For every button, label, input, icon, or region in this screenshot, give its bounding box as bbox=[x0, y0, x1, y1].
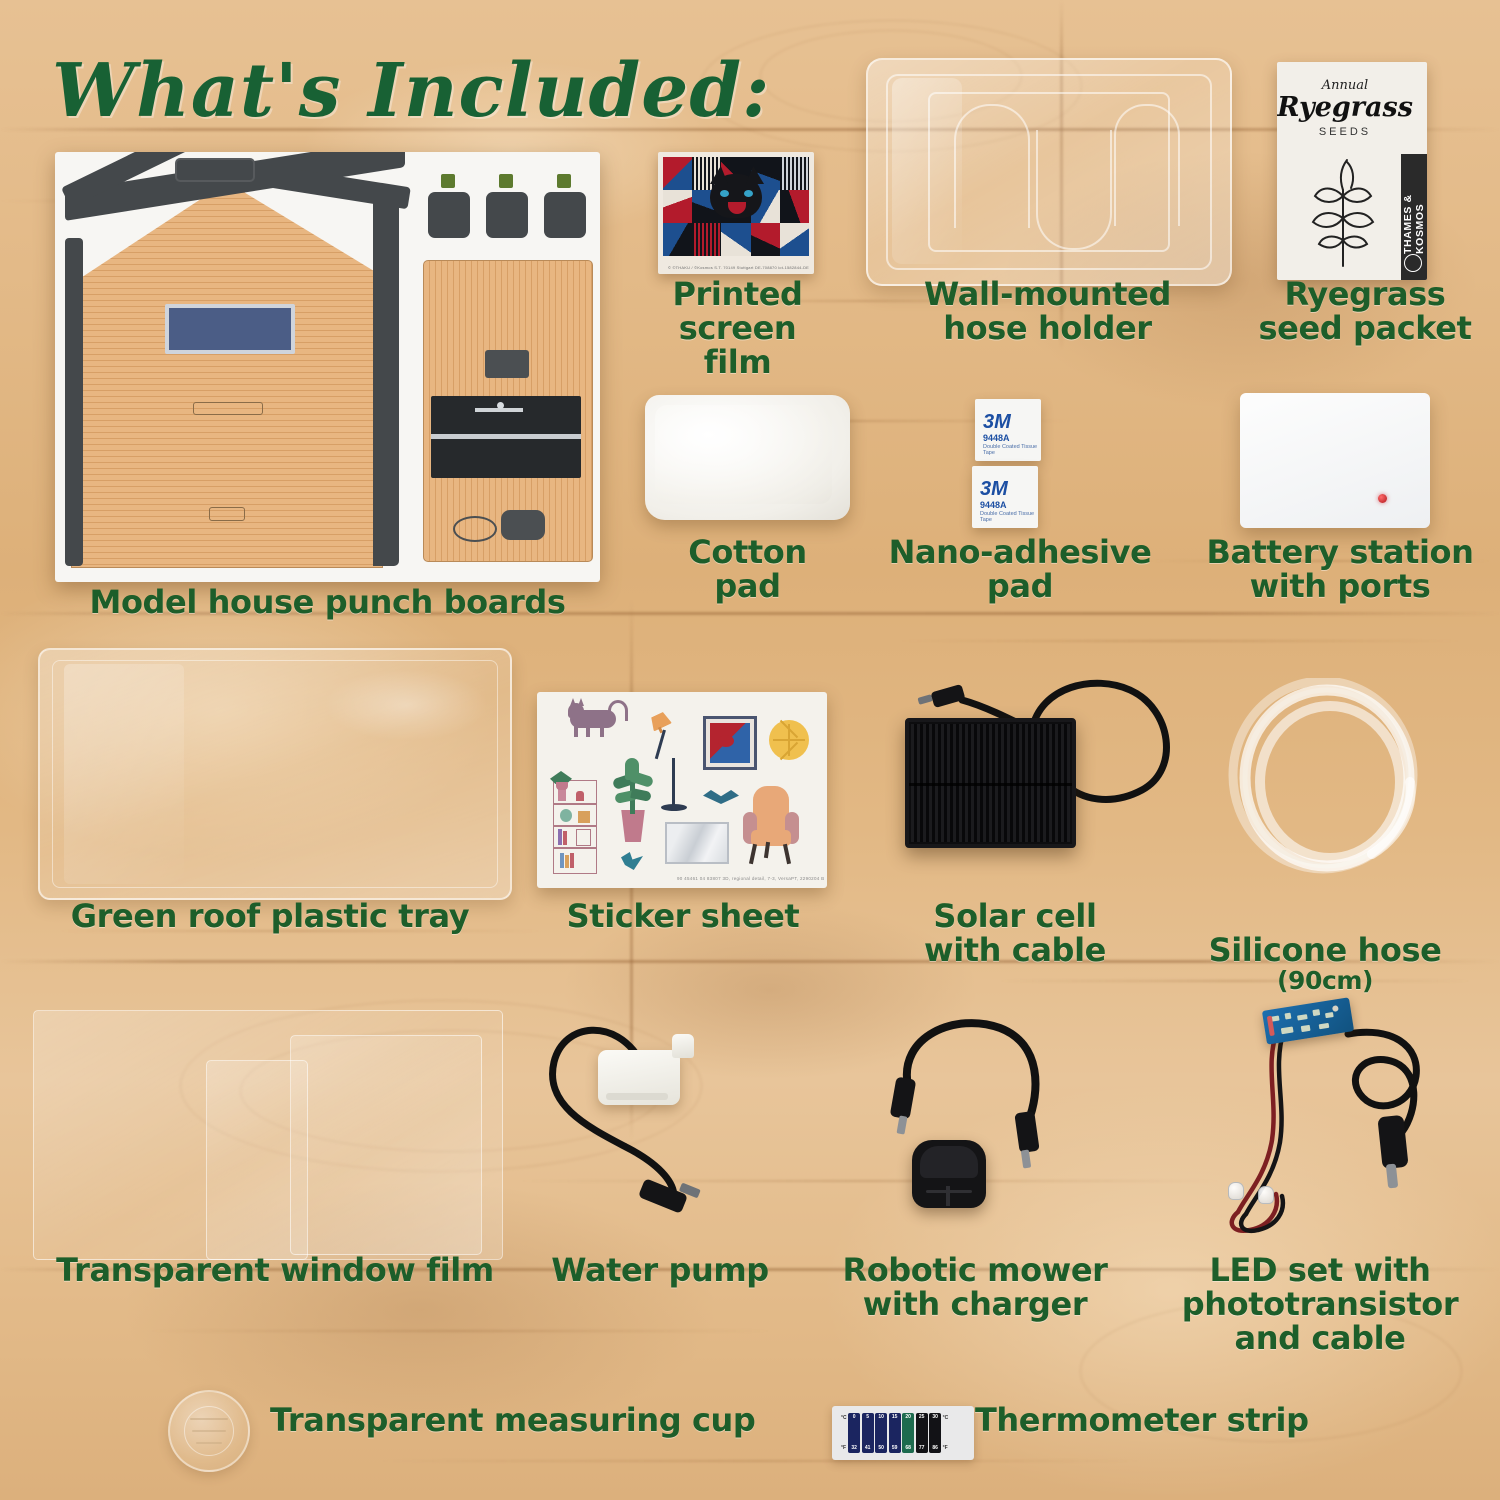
thermometer-unit-celsius: °C bbox=[841, 1415, 847, 1421]
label-sticker-sheet: Sticker sheet bbox=[548, 900, 818, 934]
thermometer-cell-celsius: 5 bbox=[866, 1415, 869, 1420]
punchboard-window bbox=[165, 304, 295, 354]
thermometer-cell-celsius: 20 bbox=[905, 1415, 911, 1420]
transparent-measuring-cup bbox=[168, 1390, 250, 1472]
thermometer-strip: °C °F 03254110501559206825773086 °C °F bbox=[832, 1406, 974, 1460]
page-title: What's Included: bbox=[52, 48, 770, 134]
seed-packet-annual: Annual bbox=[1277, 78, 1413, 93]
thermometer-cell-fahrenheit: 86 bbox=[932, 1446, 938, 1451]
led-bulb-2 bbox=[1258, 1186, 1274, 1204]
product-contents-photo: What's Included: Model house pun bbox=[0, 0, 1500, 1500]
thermometer-cell-celsius: 15 bbox=[892, 1415, 898, 1420]
sticker-sheet: 90 45461 04 83807 3D, regional detail, 7… bbox=[537, 692, 827, 888]
label-punch-boards: Model house punch boards bbox=[30, 586, 625, 620]
battery-station-with-ports bbox=[1240, 393, 1430, 528]
water-pump bbox=[520, 1000, 750, 1230]
label-mower: Robotic mower with charger bbox=[830, 1254, 1120, 1322]
screen-film-fineprint: © ©THAKU / ©Kosmos S.T. 70149 Stuttgart … bbox=[668, 265, 809, 270]
label-hose-holder: Wall-mounted hose holder bbox=[880, 278, 1215, 346]
thermometer-cell: 541 bbox=[862, 1413, 874, 1453]
thermometer-cell-fahrenheit: 32 bbox=[851, 1446, 857, 1451]
3m-logo: 3M bbox=[983, 411, 1011, 434]
thermometer-cell-celsius: 0 bbox=[853, 1415, 856, 1420]
sticker-sun-icon bbox=[769, 720, 809, 760]
seed-packet-brand: THAMES & KOSMOS bbox=[1403, 162, 1425, 254]
cotton-pad bbox=[645, 395, 850, 520]
label-screen-film: Printed screen film bbox=[645, 278, 830, 380]
thermometer-cell-celsius: 25 bbox=[919, 1415, 925, 1420]
printed-screen-film: © ©THAKU / ©Kosmos S.T. 70149 Stuttgart … bbox=[658, 152, 814, 274]
seed-packet-seeds: SEEDS bbox=[1277, 126, 1413, 138]
label-led-set: LED set with phototransistor and cable bbox=[1155, 1254, 1485, 1356]
thermometer-unit-fahrenheit: °F bbox=[841, 1445, 847, 1451]
battery-led-indicator bbox=[1378, 494, 1387, 503]
thermometer-units-right: °C °F bbox=[943, 1413, 949, 1453]
thermometer-cell: 2068 bbox=[902, 1413, 914, 1453]
sticker-bird-icon bbox=[703, 790, 739, 804]
sticker-sheet-fineprint: 90 45461 04 83807 3D, regional detail, 7… bbox=[677, 876, 824, 881]
thermometer-cell-fahrenheit: 41 bbox=[865, 1446, 871, 1451]
label-water-pump: Water pump bbox=[540, 1254, 780, 1288]
label-thermometer: Thermometer strip bbox=[975, 1404, 1405, 1438]
wall-mounted-hose-holder bbox=[866, 58, 1232, 286]
thermometer-cell: 2577 bbox=[916, 1413, 928, 1453]
thermometer-cell-fahrenheit: 59 bbox=[892, 1446, 898, 1451]
3m-code-2: 9448A bbox=[980, 500, 1007, 510]
silicone-hose bbox=[1222, 678, 1432, 888]
thermometer-cell-celsius: 10 bbox=[878, 1415, 884, 1420]
led-set-with-phototransistor bbox=[1180, 990, 1470, 1240]
nano-adhesive-pad-2: 3M 9448A Double Coated Tissue Tape bbox=[972, 466, 1038, 528]
label-seed-packet: Ryegrass seed packet bbox=[1255, 278, 1475, 346]
label-battery: Battery station with ports bbox=[1195, 536, 1485, 604]
thermometer-cell: 1050 bbox=[875, 1413, 887, 1453]
thermometer-unit-fahrenheit-right: °F bbox=[943, 1445, 949, 1451]
ryegrass-plant-illustration bbox=[1295, 150, 1391, 268]
seed-packet-name: Ryegrass bbox=[1277, 92, 1413, 123]
label-window-film: Transparent window film bbox=[30, 1254, 520, 1288]
nano-adhesive-pad-1: 3M 9448A Double Coated Tissue Tape bbox=[975, 399, 1041, 461]
3m-logo-2: 3M bbox=[980, 478, 1008, 501]
thermometer-units: °C °F bbox=[841, 1413, 847, 1453]
3m-fineprint-1: Double Coated Tissue Tape bbox=[983, 444, 1041, 456]
label-silicone-hose-main: Silicone hose bbox=[1209, 931, 1442, 969]
sticker-mirror-icon bbox=[665, 822, 729, 864]
3m-fineprint-2: Double Coated Tissue Tape bbox=[980, 511, 1038, 523]
label-solar-cell: Solar cell with cable bbox=[880, 900, 1150, 968]
green-roof-plastic-tray bbox=[38, 648, 512, 900]
thermometer-cell: 1559 bbox=[889, 1413, 901, 1453]
thermometer-cell-fahrenheit: 77 bbox=[919, 1446, 925, 1451]
robotic-mower-with-charger bbox=[860, 1000, 1090, 1240]
led-bulb-1 bbox=[1228, 1182, 1244, 1200]
label-cotton-pad: Cotton pad bbox=[650, 536, 845, 604]
model-house-punch-boards bbox=[55, 152, 600, 582]
transparent-window-film-medium bbox=[290, 1035, 482, 1255]
thermometer-cell: 3086 bbox=[929, 1413, 941, 1453]
label-nano-pad: Nano-adhesive pad bbox=[880, 536, 1160, 604]
thermometer-cell: 032 bbox=[848, 1413, 860, 1453]
sticker-bookshelf-icon bbox=[553, 780, 597, 874]
label-roof-tray: Green roof plastic tray bbox=[20, 900, 520, 934]
water-pump-nozzle bbox=[672, 1034, 694, 1058]
thermometer-cell-celsius: 30 bbox=[932, 1415, 938, 1420]
thermometer-cells: 03254110501559206825773086 bbox=[848, 1413, 941, 1453]
3m-code-1: 9448A bbox=[983, 433, 1010, 443]
thermometer-cell-fahrenheit: 68 bbox=[905, 1446, 911, 1451]
sticker-framed-art-icon bbox=[703, 716, 757, 770]
ryegrass-seed-packet: Annual Ryegrass SEEDS THAMES & KOSMOS bbox=[1277, 62, 1427, 280]
solar-cell bbox=[905, 718, 1076, 848]
sticker-bird-small-icon bbox=[621, 852, 643, 870]
brand-logo-icon bbox=[1404, 254, 1422, 272]
label-measuring-cup: Transparent measuring cup bbox=[270, 1404, 810, 1438]
thermometer-unit-celsius-right: °C bbox=[943, 1415, 949, 1421]
thermometer-cell-fahrenheit: 50 bbox=[878, 1446, 884, 1451]
